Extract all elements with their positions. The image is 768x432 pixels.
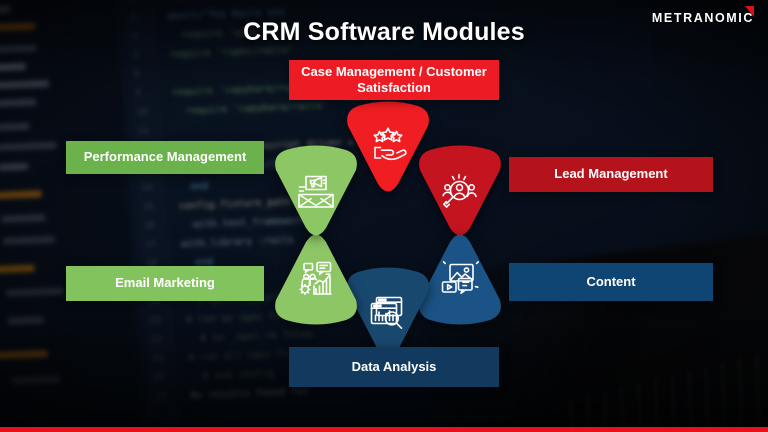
team-gear-growth-chart-icon [293, 256, 339, 302]
label-email-marketing[interactable]: Email Marketing [66, 266, 264, 301]
magnifier-over-people-icon [437, 169, 483, 215]
module-pick-cluster [268, 100, 508, 335]
hand-holding-stars-icon [365, 125, 411, 171]
brand-logo: METRANOMIC [652, 11, 754, 25]
image-video-media-icon [437, 256, 483, 302]
envelope-megaphone-icon [293, 169, 339, 215]
label-case-management[interactable]: Case Management / Customer Satisfaction [289, 60, 499, 100]
label-content[interactable]: Content [509, 263, 713, 301]
pick-email-marketing[interactable] [264, 144, 368, 244]
label-data-analysis[interactable]: Data Analysis [289, 347, 499, 387]
label-lead-management[interactable]: Lead Management [509, 157, 713, 192]
bottom-accent-bar [0, 427, 768, 432]
label-performance-management[interactable]: Performance Management [66, 141, 264, 174]
slide-canvas: 3require File.expand_path(4# Prevent dat… [0, 0, 768, 432]
chart-window-magnifier-icon [365, 291, 411, 337]
brand-name: METRANOMIC [652, 11, 754, 25]
triangle-mark-icon [745, 6, 754, 17]
